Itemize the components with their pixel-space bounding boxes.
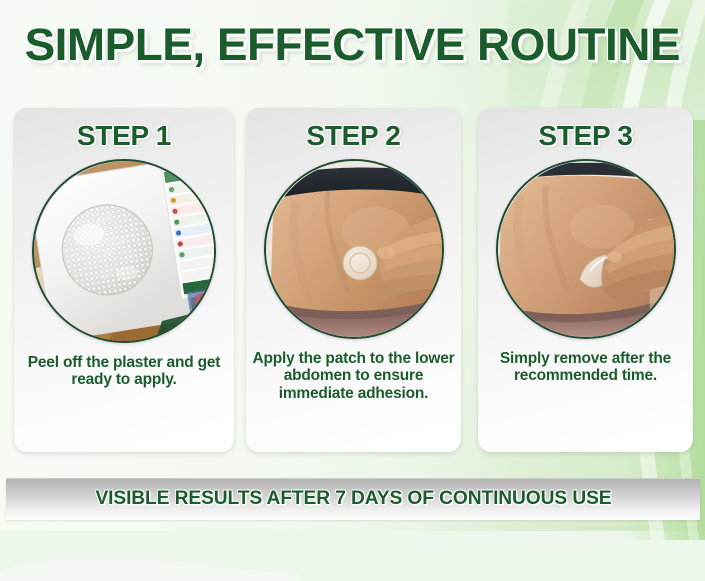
step-1-photo-wrap	[14, 159, 234, 343]
step-1-title: STEP 1	[14, 120, 234, 152]
plaster-patch-package-photo	[32, 159, 216, 343]
page-title: SIMPLE, EFFECTIVE ROUTINE	[25, 22, 680, 67]
applying-patch-to-abdomen-photo	[264, 159, 444, 339]
step-card-3: STEP 3	[478, 108, 693, 452]
step-2-caption: Apply the patch to the lower abdomen to …	[252, 350, 455, 402]
results-banner: VISIBLE RESULTS AFTER 7 DAYS OF CONTINUO…	[6, 478, 700, 520]
step-2-title: STEP 2	[246, 120, 461, 152]
steps-container: STEP 1	[0, 108, 705, 452]
results-banner-text: VISIBLE RESULTS AFTER 7 DAYS OF CONTINUO…	[95, 488, 611, 510]
header: SIMPLE, EFFECTIVE ROUTINE	[0, 22, 705, 67]
step-1-caption: Peel off the plaster and get ready to ap…	[20, 354, 228, 389]
removing-patch-from-abdomen-photo	[496, 159, 676, 339]
step-3-caption: Simply remove after the recommended time…	[484, 350, 687, 385]
step-card-2: STEP 2	[246, 108, 461, 452]
step-3-photo-wrap	[478, 159, 693, 339]
step-2-photo-wrap	[246, 159, 461, 339]
step-card-1: STEP 1	[14, 108, 234, 452]
step-3-title: STEP 3	[478, 120, 693, 152]
